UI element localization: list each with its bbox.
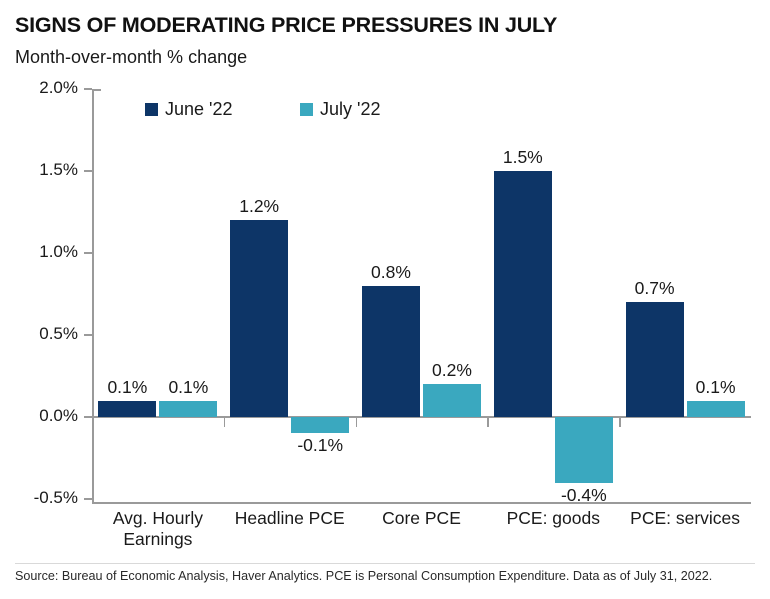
chart-title: SIGNS OF MODERATING PRICE PRESSURES IN J…: [15, 13, 557, 38]
category-label-line: Core PCE: [356, 508, 488, 529]
bar-value-label: 0.1%: [674, 377, 758, 398]
bar-value-label: 0.7%: [613, 278, 697, 299]
category-label-line: Avg. Hourly: [92, 508, 224, 529]
bar-value-label: 0.8%: [349, 262, 433, 283]
category-label-line: PCE: services: [619, 508, 751, 529]
bar[interactable]: [494, 171, 552, 417]
y-axis-tick: [84, 88, 92, 90]
bar[interactable]: [159, 401, 217, 417]
y-axis-label: -0.5%: [4, 488, 78, 508]
bar-value-label: 0.2%: [410, 360, 494, 381]
category-label-line: PCE: goods: [487, 508, 619, 529]
x-axis-line: [92, 502, 751, 504]
bar[interactable]: [230, 220, 288, 417]
chart-container: SIGNS OF MODERATING PRICE PRESSURES IN J…: [0, 0, 770, 599]
legend-label: June '22: [165, 99, 233, 120]
x-axis-category-label: PCE: services: [619, 508, 751, 529]
x-axis-category-label: Headline PCE: [224, 508, 356, 529]
y-axis-label: 2.0%: [4, 78, 78, 98]
bar-value-label: 0.1%: [146, 377, 230, 398]
y-axis-tick: [84, 498, 92, 500]
legend-item-july[interactable]: July '22: [300, 99, 380, 120]
y-axis-line: [92, 89, 94, 504]
bar[interactable]: [555, 417, 613, 483]
bar[interactable]: [291, 417, 349, 433]
bar[interactable]: [626, 302, 684, 417]
x-axis-category-label: PCE: goods: [487, 508, 619, 529]
x-axis-tick: [356, 418, 358, 427]
x-axis-tick: [224, 418, 226, 427]
bar-value-label: -0.4%: [542, 485, 626, 506]
x-axis-tick: [619, 418, 621, 427]
bar[interactable]: [98, 401, 156, 417]
y-axis-label: 1.0%: [4, 242, 78, 262]
y-axis-label: 0.5%: [4, 324, 78, 344]
category-label-line: Earnings: [92, 529, 224, 550]
chart-subtitle: Month-over-month % change: [15, 47, 247, 68]
bar-value-label: 1.2%: [217, 196, 301, 217]
legend-item-june[interactable]: June '22: [145, 99, 233, 120]
y-axis-tick: [84, 416, 92, 418]
category-label-line: Headline PCE: [224, 508, 356, 529]
x-axis-tick: [487, 418, 489, 427]
x-axis-category-label: Core PCE: [356, 508, 488, 529]
legend-swatch-icon: [300, 103, 313, 116]
bar[interactable]: [362, 286, 420, 417]
source-note: Source: Bureau of Economic Analysis, Hav…: [15, 569, 712, 583]
y-axis-cap: [92, 89, 101, 91]
y-axis-tick: [84, 252, 92, 254]
bar[interactable]: [687, 401, 745, 417]
y-axis-label: 1.5%: [4, 160, 78, 180]
y-axis-tick: [84, 334, 92, 336]
bar-value-label: -0.1%: [278, 435, 362, 456]
x-axis-category-label: Avg. HourlyEarnings: [92, 508, 224, 550]
bar[interactable]: [423, 384, 481, 417]
y-axis-tick: [84, 170, 92, 172]
bar-value-label: 1.5%: [481, 147, 565, 168]
legend-swatch-icon: [145, 103, 158, 116]
legend-label: July '22: [320, 99, 380, 120]
y-axis-label: 0.0%: [4, 406, 78, 426]
footer-divider: [15, 563, 755, 564]
